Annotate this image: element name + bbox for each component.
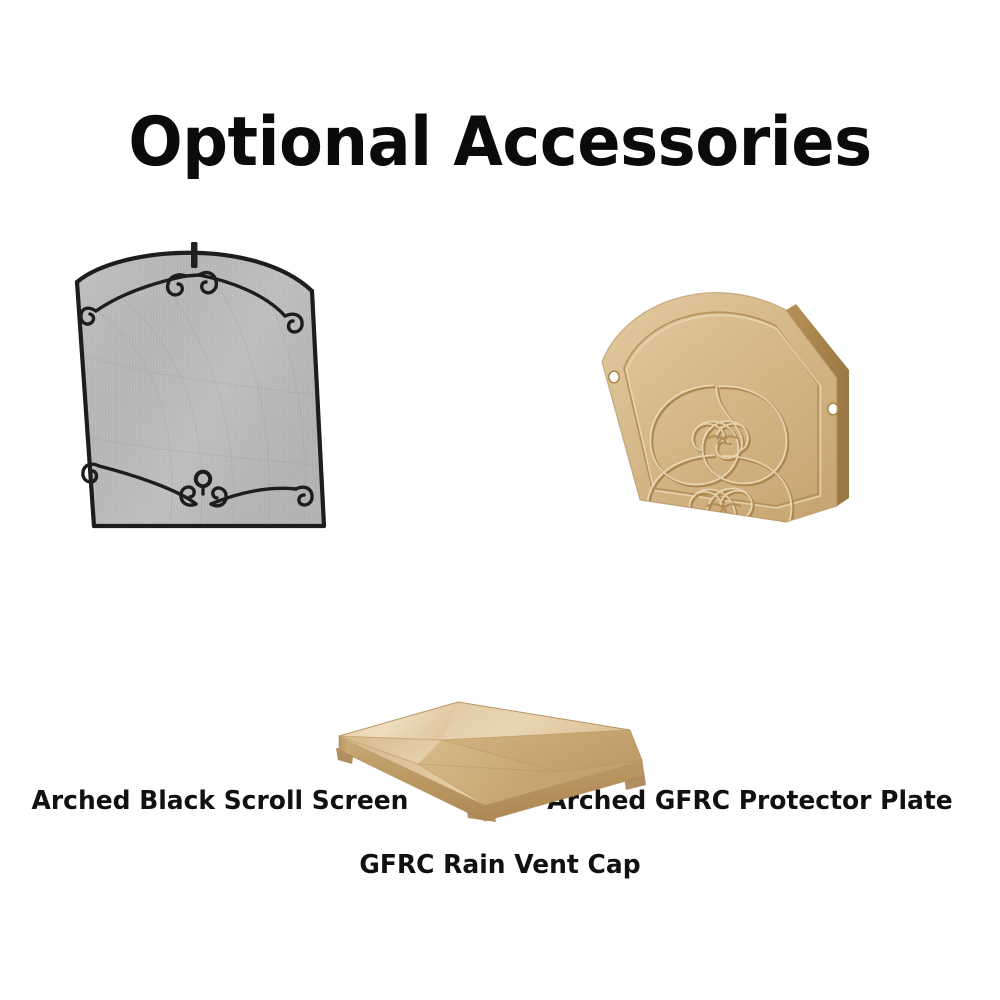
arched-gfrc-protector-plate-image <box>590 260 860 536</box>
gfrc-rain-vent-cap-image <box>330 690 670 830</box>
product-card-arched-gfrc-protector-plate[interactable]: Arched GFRC Protector Plate <box>500 236 1000 596</box>
product-card-gfrc-rain-vent-cap[interactable]: GFRC Rain Vent Cap <box>250 660 750 910</box>
screen-top-handle <box>191 242 198 268</box>
arched-black-scroll-screen-image <box>60 236 380 536</box>
product-card-arched-black-scroll-screen[interactable]: Arched Black Scroll Screen <box>0 236 480 596</box>
page-title: Optional Accessories <box>30 104 970 182</box>
product-label-gfrc-rain-vent-cap: GFRC Rain Vent Cap <box>279 850 721 880</box>
plate-mounting-hole-left <box>609 371 619 383</box>
optional-accessories-page: Optional Accessories <box>0 0 1000 1000</box>
